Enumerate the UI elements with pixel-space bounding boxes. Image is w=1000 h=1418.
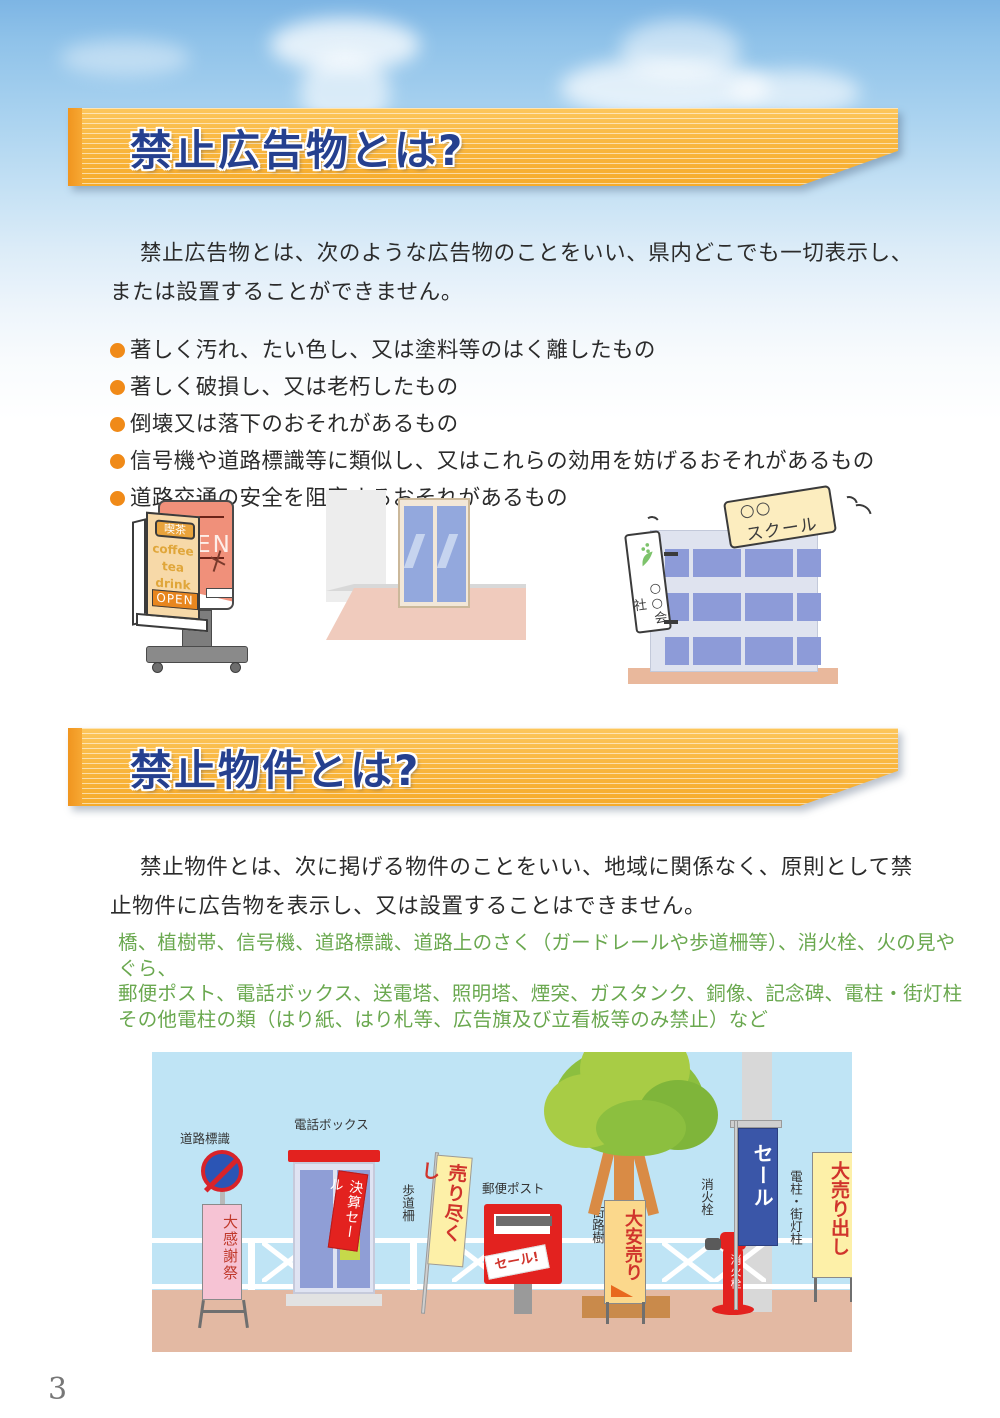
paragraph-line: 禁止広告物とは、次のような広告物のことをいい、県内どこでも一切表示し、 xyxy=(110,234,930,273)
paragraph-line: または設置することができません。 xyxy=(110,273,930,312)
section2-paragraph: 禁止物件とは、次に掲げる物件のことをいい、地域に関係なく、原則として禁 止物件に… xyxy=(110,848,930,926)
window-pair xyxy=(769,637,821,665)
open-badge: OPEN xyxy=(152,589,198,610)
section-heading-2: 禁止物件とは? xyxy=(130,737,420,798)
cloud-decoration xyxy=(620,20,740,80)
list-item: 著しく汚れ、たい色し、又は塗料等のはく離したもの xyxy=(110,334,940,367)
menu-item: coffee xyxy=(148,541,198,559)
shop-label: 喫茶 xyxy=(155,519,195,539)
door-glass-pane xyxy=(404,506,433,602)
window-pair xyxy=(769,593,821,621)
menu-item: tea xyxy=(148,558,198,576)
prohibited-objects-list: 橋、植樹帯、信号機、道路標識、道路上のさく（ガードレールや歩道柵等）、消火栓、火… xyxy=(118,930,968,1032)
green-list-line: 橋、植樹帯、信号機、道路標識、道路上のさく（ガードレールや歩道柵等）、消火栓、火… xyxy=(118,930,968,981)
label-post-box: 郵便ポスト xyxy=(482,1178,545,1197)
board-leg xyxy=(198,1300,204,1328)
window-pair xyxy=(769,549,821,577)
label-utility-pole: 電柱・街灯柱 xyxy=(786,1170,805,1266)
label-sidewalk-fence: 歩道柵 xyxy=(398,1184,417,1246)
window xyxy=(769,637,793,665)
hydrant-body: 消火栓 xyxy=(723,1248,743,1310)
list-item-label: 著しく汚れ、たい色し、又は塗料等のはく離したもの xyxy=(130,334,656,367)
window-pair xyxy=(717,593,769,621)
list-item-label: 信号機や道路標識等に類似し、又はこれらの効用を妨げるおそれがあるもの xyxy=(130,445,875,478)
bullet-dot-icon xyxy=(110,343,125,358)
caster-wheel-icon xyxy=(230,662,241,673)
leaf-logo-icon xyxy=(636,541,657,569)
ad-flag-text: 売り尽くし xyxy=(429,1162,471,1261)
board-leg xyxy=(850,1278,852,1302)
banner-accent-bar xyxy=(68,728,82,806)
roof-sign-school: スクール xyxy=(723,485,837,549)
caster-wheel-icon xyxy=(152,662,163,673)
glass-reflection xyxy=(404,534,425,568)
green-list-line: 郵便ポスト、電話ボックス、送電塔、照明塔、煙突、ガスタンク、銅像、記念碑、電柱・… xyxy=(118,981,968,1007)
list-item: 著しく破損し、又は老朽したもの xyxy=(110,371,940,404)
aframe-panel: 喫茶 coffee tea drink OPEN xyxy=(146,512,200,621)
board-legs xyxy=(810,1278,852,1302)
window-pair xyxy=(665,637,717,665)
window xyxy=(745,593,769,621)
bullet-dot-icon xyxy=(110,491,125,506)
aframe-back-leg xyxy=(132,518,146,625)
board-leg xyxy=(202,1310,246,1313)
bullet-dot-icon xyxy=(110,417,125,432)
section1-paragraph: 禁止広告物とは、次のような広告物のことをいい、県内どこでも一切表示し、 または設… xyxy=(110,234,930,312)
label-phone-box: 電話ボックス xyxy=(294,1114,369,1133)
sign-bracket xyxy=(664,552,678,556)
section-heading-banner-2: 禁止物件とは? xyxy=(68,728,898,806)
fence-rail xyxy=(152,1284,852,1289)
cloud-decoration xyxy=(270,18,420,72)
sign-stand-base xyxy=(146,646,248,663)
phone-box-roof xyxy=(288,1150,380,1162)
circle-icon xyxy=(740,504,755,519)
window-pair xyxy=(717,549,769,577)
window-row xyxy=(665,549,803,577)
window-row xyxy=(665,637,803,665)
post-slot-opening xyxy=(496,1216,552,1226)
window xyxy=(693,549,717,577)
banner-accent-bar xyxy=(68,108,82,186)
ad-flag-text: セール xyxy=(739,1143,777,1233)
section-heading-banner-1: 禁止広告物とは? xyxy=(68,108,898,186)
ad-board-text: 大感謝祭 xyxy=(203,1214,241,1294)
window-pair xyxy=(665,593,717,621)
hydrant-nozzle xyxy=(705,1238,721,1250)
illustration-prohibited-ads: OPEN xyxy=(130,490,870,705)
green-list-line: その他電柱の類（はり紙、はり札等、広告旗及び立看板等のみ禁止）など xyxy=(118,1007,968,1033)
label-fire-hydrant: 消火栓 xyxy=(697,1178,716,1240)
list-item: 信号機や道路標識等に類似し、又はこれらの効用を妨げるおそれがあるもの xyxy=(110,445,940,478)
window xyxy=(797,549,821,577)
window xyxy=(717,637,741,665)
glass-reflection xyxy=(437,534,458,568)
window xyxy=(769,593,793,621)
fence-post xyxy=(248,1238,255,1290)
cloud-decoration xyxy=(60,40,190,76)
no-parking-sign-icon xyxy=(201,1150,243,1192)
ad-flag-blue: セール xyxy=(738,1128,778,1246)
phone-box-base xyxy=(286,1294,382,1306)
board-leg xyxy=(242,1300,248,1328)
arrow-icon xyxy=(611,1285,633,1297)
ad-board-text: 大売り出し xyxy=(813,1161,852,1271)
window xyxy=(745,549,769,577)
list-item-label: 著しく破損し、又は老朽したもの xyxy=(130,371,459,404)
paragraph-line: 禁止物件とは、次に掲げる物件のことをいい、地域に関係なく、原則として禁 xyxy=(110,848,930,887)
ad-board-pink: 大感謝祭 xyxy=(202,1204,242,1300)
tree-foliage xyxy=(596,1100,686,1156)
brochure-page: 禁止広告物とは? 禁止広告物とは、次のような広告物のことをいい、県内どこでも一切… xyxy=(0,0,1000,1418)
section-heading-1: 禁止広告物とは? xyxy=(130,117,464,178)
sign-slash-icon xyxy=(204,1156,240,1192)
window xyxy=(769,549,793,577)
window xyxy=(797,637,821,665)
board-leg xyxy=(606,1302,609,1324)
board-leg xyxy=(642,1302,645,1324)
window-pair xyxy=(717,637,769,665)
peeling-paint-strip xyxy=(206,588,234,598)
list-item: 倒壊又は落下のおそれがあるもの xyxy=(110,408,940,441)
list-item-label: 倒壊又は落下のおそれがあるもの xyxy=(130,408,459,441)
window xyxy=(693,637,717,665)
ad-board-far-right: 大売り出し xyxy=(812,1152,852,1278)
label-road-sign: 道路標識 xyxy=(180,1128,230,1147)
hydrant-foot xyxy=(712,1304,754,1315)
window xyxy=(665,637,689,665)
board-legs xyxy=(602,1302,650,1324)
ad-board-text: 大安売り xyxy=(605,1209,645,1285)
window xyxy=(717,549,741,577)
paragraph-line: 止物件に広告物を表示し、又は設置することはできません。 xyxy=(110,887,930,926)
window-row xyxy=(665,593,803,621)
storefront-door xyxy=(398,498,470,608)
board-legs xyxy=(196,1300,252,1328)
board-leg xyxy=(814,1278,817,1302)
illustration-street-scene: 道路標識 大感謝祭 電話ボックス 決算セール xyxy=(152,1052,852,1352)
bullet-dot-icon xyxy=(110,380,125,395)
door-glass-pane xyxy=(437,506,466,602)
post-box-leg xyxy=(514,1284,532,1314)
sign-bracket xyxy=(664,620,678,624)
bullet-dot-icon xyxy=(110,454,125,469)
ad-board-tree: 大安売り xyxy=(604,1200,646,1304)
window xyxy=(717,593,741,621)
window xyxy=(693,593,717,621)
window xyxy=(797,593,821,621)
page-number: 3 xyxy=(48,1372,67,1407)
circle-icon xyxy=(756,502,771,517)
window xyxy=(745,637,769,665)
post-slot xyxy=(494,1214,550,1234)
